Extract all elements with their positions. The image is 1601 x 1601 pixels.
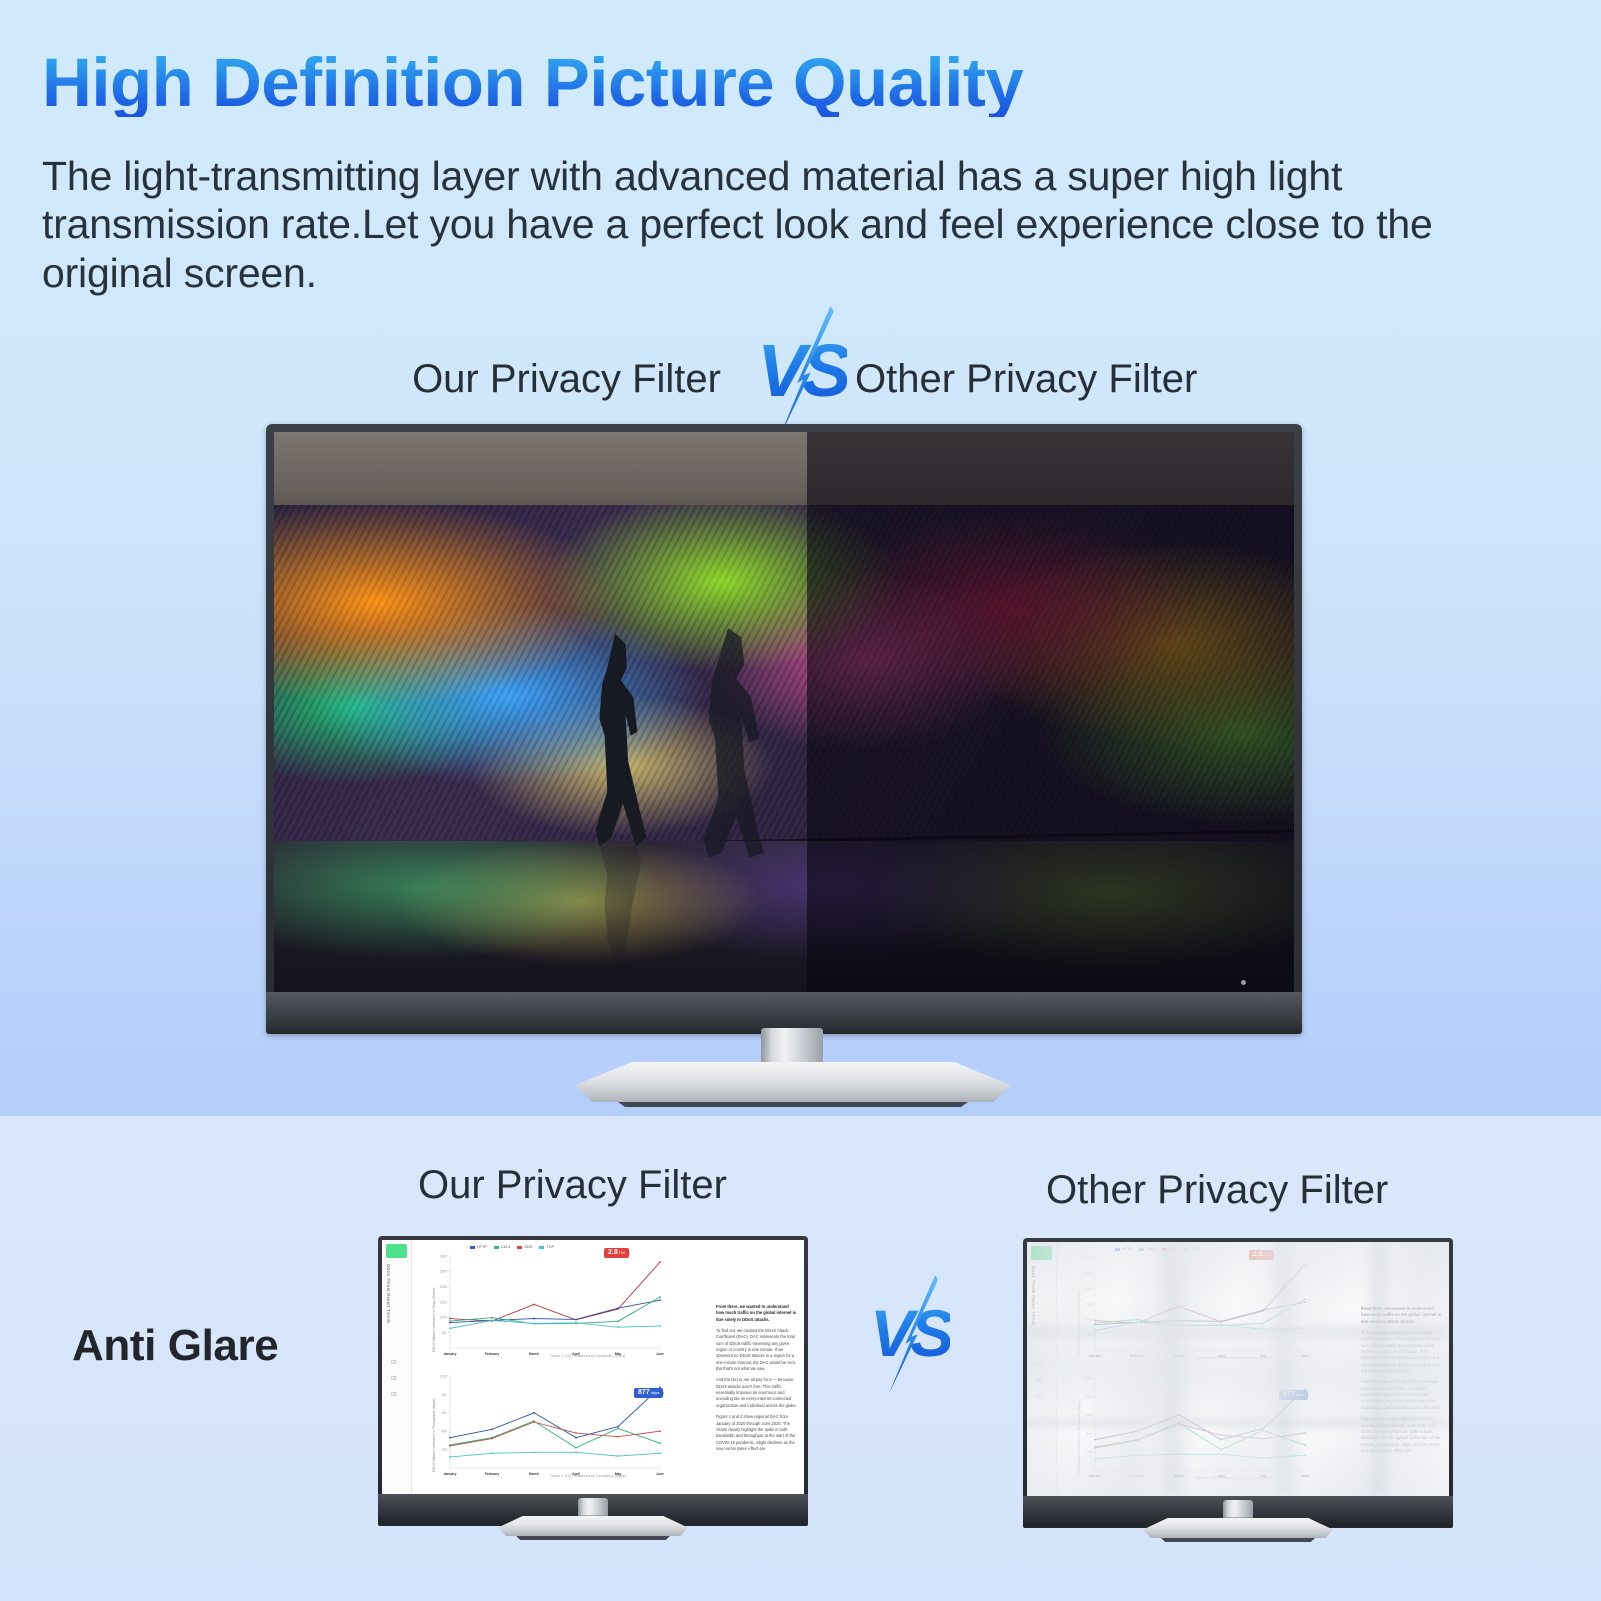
legend-swatch	[539, 1246, 544, 1249]
svg-text:February: February	[485, 1352, 500, 1356]
hero-section: High Definition Picture Quality The ligh…	[0, 0, 1601, 1116]
sidebar-title: DDoS Threat Report Trends	[386, 1264, 391, 1334]
chart-caption: Figure 1. DAC measured by Bandwidth (Gbi…	[550, 1354, 625, 1358]
svg-text:January: January	[443, 1472, 456, 1476]
screen-artwork	[274, 432, 1294, 992]
svg-text:200: 200	[442, 1448, 448, 1452]
page-subtitle: The light-transmitting layer with advanc…	[42, 152, 1514, 297]
sidebar-page-number: 01	[1036, 1362, 1042, 1368]
page-title: High Definition Picture Quality	[42, 48, 1023, 117]
document-paragraph: To find out, we created the DDoS Attack …	[716, 1328, 798, 1372]
svg-text:400: 400	[442, 1430, 448, 1434]
svg-text:2500: 2500	[440, 1270, 447, 1274]
legend-entry: HTTP	[470, 1245, 487, 1249]
svg-text:2000: 2000	[1085, 1287, 1092, 1291]
feature-label-anti-glare: Anti Glare	[72, 1321, 278, 1371]
chart-y-axis-label: DDoS Attack Coefficient in Gbps (Gbit/s)	[432, 1288, 436, 1352]
glare-window-frame-vertical	[1268, 1242, 1302, 1496]
mini-stand-base	[1143, 1518, 1333, 1538]
svg-text:800: 800	[1087, 1395, 1093, 1399]
sidebar-page-number: 03	[1036, 1394, 1042, 1400]
svg-text:1000: 1000	[1085, 1318, 1092, 1322]
svg-text:June: June	[1301, 1354, 1309, 1358]
glare-window-frame-horizontal	[1027, 1415, 1449, 1430]
brand-badge-icon	[1031, 1246, 1052, 1260]
mini-stand-base	[498, 1516, 688, 1536]
svg-text:February: February	[1130, 1354, 1145, 1358]
glare-window-frame-vertical	[1154, 1242, 1192, 1496]
mini-monitor-screen: DDoS Threat Report Trends010203HTTPL3/L4…	[382, 1240, 804, 1494]
svg-text:3000: 3000	[1085, 1256, 1092, 1260]
svg-text:400: 400	[1087, 1432, 1093, 1436]
svg-text:June: June	[656, 1472, 664, 1476]
chart-chart-bottom: 2004006008001000JanuaryFebruaryMarchApri…	[434, 1372, 664, 1480]
monitor-stand-base	[575, 1062, 1011, 1102]
svg-text:2500: 2500	[1085, 1272, 1092, 1276]
legend-swatch	[517, 1246, 522, 1249]
legend-swatch	[494, 1246, 499, 1249]
sidebar-page-number: 03	[391, 1392, 397, 1398]
legend-swatch	[1115, 1248, 1120, 1251]
svg-text:February: February	[1130, 1474, 1145, 1478]
document-sidebar: DDoS Threat Report Trends010203	[1027, 1242, 1057, 1496]
document-page: DDoS Threat Report Trends010203HTTPL3/L4…	[382, 1240, 804, 1494]
mini-monitor-other-filter: DDoS Threat Report Trends010203HTTPL3/L4…	[1023, 1238, 1453, 1528]
svg-text:1000: 1000	[440, 1374, 447, 1378]
bottom-label-our-filter: Our Privacy Filter	[418, 1163, 727, 1208]
document-text-column: From there, we wanted to understand how …	[716, 1304, 798, 1457]
svg-text:3000: 3000	[440, 1254, 447, 1258]
mini-monitor-screen: DDoS Threat Report Trends010203HTTPL3/L4…	[1027, 1242, 1449, 1496]
monitor-screen	[274, 432, 1294, 992]
chart-caption: Figure 2. DAC measured by Throughput (Mp…	[1195, 1476, 1271, 1480]
svg-text:January: January	[1088, 1354, 1101, 1358]
svg-text:January: January	[1088, 1474, 1101, 1478]
legend-entry: TCP	[539, 1245, 554, 1249]
legend-swatch	[1139, 1248, 1144, 1251]
svg-text:2000: 2000	[440, 1285, 447, 1289]
mini-monitor-our-filter: DDoS Threat Report Trends010203HTTPL3/L4…	[378, 1236, 808, 1526]
glare-window-frame-vertical	[1365, 1242, 1395, 1496]
svg-text:1000: 1000	[1085, 1376, 1092, 1380]
marketing-page: High Definition Picture Quality The ligh…	[0, 0, 1601, 1601]
sidebar-page-number: 02	[1036, 1378, 1042, 1384]
top-label-other-filter: Other Privacy Filter	[855, 348, 1197, 410]
legend-swatch	[470, 1246, 475, 1249]
bottom-label-other-filter: Other Privacy Filter	[1046, 1168, 1388, 1213]
svg-text:1500: 1500	[1085, 1302, 1092, 1306]
sidebar-page-number: 02	[391, 1376, 397, 1382]
monitor-bezel	[266, 424, 1302, 1034]
brand-badge-icon	[386, 1244, 407, 1258]
svg-text:800: 800	[442, 1393, 448, 1397]
hero-monitor	[266, 424, 1302, 1034]
svg-text:June: June	[1301, 1474, 1309, 1478]
chart-caption: Figure 1. DAC measured by Bandwidth (Gbi…	[1195, 1356, 1270, 1360]
legend-entry: HTTP	[1115, 1247, 1132, 1251]
power-led-icon	[1241, 980, 1246, 985]
top-compare-labels: Our Privacy Filter Other Privacy Filter	[0, 348, 1601, 410]
artwork-floor	[274, 841, 1294, 992]
mini-monitor-bezel: DDoS Threat Report Trends010203HTTPL3/L4…	[378, 1236, 808, 1526]
chart-y-axis-label: DDoS Attack Coefficient in Throughput (M…	[1077, 1400, 1081, 1474]
sidebar-page-number: 01	[391, 1360, 397, 1366]
top-label-our-filter: Our Privacy Filter	[412, 348, 721, 410]
svg-text:600: 600	[442, 1411, 448, 1415]
svg-text:500: 500	[442, 1331, 448, 1335]
document-paragraph: And the fact is, we all pay for it — bec…	[716, 1377, 798, 1409]
chart-peak-badge: 2.8Tbit	[604, 1248, 629, 1258]
svg-text:March: March	[529, 1472, 539, 1476]
chart-y-axis-label: DDoS Attack Coefficient in Throughput (M…	[432, 1398, 436, 1472]
document-sidebar: DDoS Threat Report Trends010203	[382, 1240, 412, 1494]
mini-monitor-bezel: DDoS Threat Report Trends010203HTTPL3/L4…	[1023, 1238, 1453, 1528]
chart-legend: HTTPL3/L4DNSTCP	[470, 1245, 554, 1249]
chart-chart-top: 50010001500200025003000JanuaryFebruaryMa…	[434, 1252, 664, 1360]
artwork-stripe-texture	[274, 505, 1294, 852]
svg-text:1000: 1000	[440, 1316, 447, 1320]
chart-caption: Figure 2. DAC measured by Throughput (Mp…	[550, 1474, 626, 1478]
legend-entry: L3/L4	[494, 1245, 511, 1249]
svg-text:February: February	[485, 1472, 500, 1476]
chart-peak-badge: 877Mpps	[634, 1388, 663, 1398]
chart-y-axis-label: DDoS Attack Coefficient in Gbps (Gbit/s)	[1077, 1290, 1081, 1354]
legend-entry: DNS	[517, 1245, 532, 1249]
svg-text:January: January	[443, 1352, 456, 1356]
glare-window-frame-horizontal	[1027, 1323, 1449, 1341]
svg-text:1500: 1500	[440, 1300, 447, 1304]
svg-text:March: March	[529, 1352, 539, 1356]
document-paragraph: From there, we wanted to understand how …	[716, 1304, 798, 1323]
document-paragraph: Figure 1 and 2 show regional DAC from Ja…	[716, 1414, 798, 1452]
svg-text:June: June	[656, 1352, 664, 1356]
svg-text:200: 200	[1087, 1450, 1093, 1454]
